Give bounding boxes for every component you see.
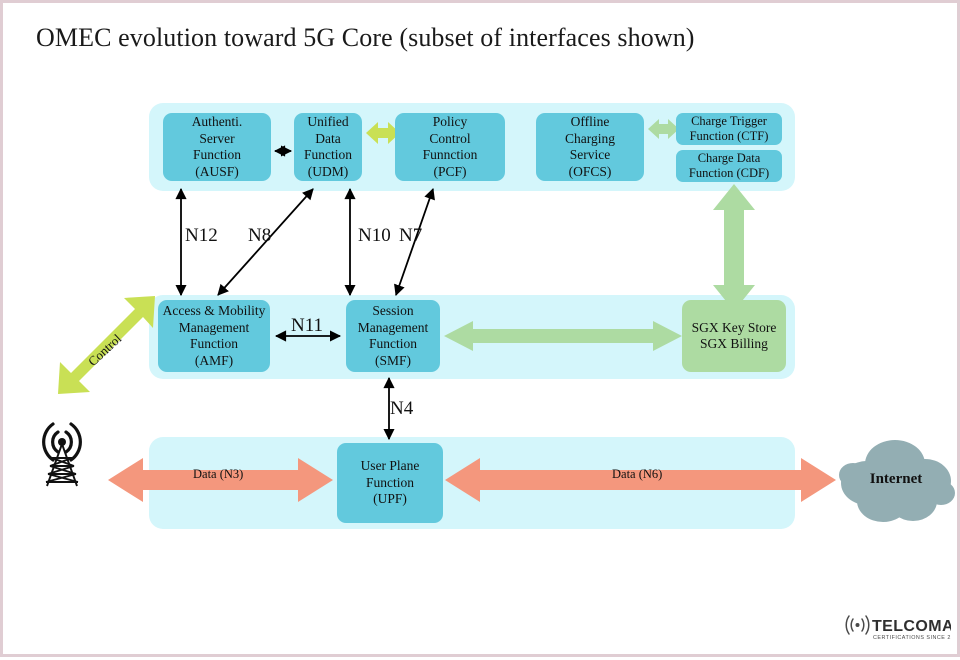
- nf-box-sgx[interactable]: SGX Key Store SGX Billing: [682, 300, 786, 372]
- nf-line: Function: [193, 147, 241, 164]
- nf-box-ausf[interactable]: Authenti. Server Function (AUSF): [163, 113, 271, 181]
- nf-line: SGX Billing: [700, 336, 768, 353]
- nf-line: Offline: [571, 114, 610, 131]
- interface-label-n12: N12: [185, 225, 218, 247]
- nf-line: Policy: [433, 114, 468, 131]
- nf-line: (PCF): [433, 164, 466, 181]
- nf-line: (OFCS): [569, 164, 612, 181]
- user-plane-panel: [149, 437, 795, 529]
- nf-line: Charge Trigger: [691, 114, 767, 129]
- nf-line: Function: [190, 336, 238, 353]
- nf-line: User Plane: [361, 458, 420, 475]
- nf-line: (AUSF): [195, 164, 239, 181]
- nf-box-ctf[interactable]: Charge Trigger Function (CTF): [676, 113, 782, 145]
- nf-line: Management: [179, 320, 249, 337]
- interface-label-n11: N11: [291, 315, 323, 337]
- interface-label-data-n6: Data (N6): [612, 467, 662, 482]
- nf-line: Access & Mobility: [163, 303, 266, 320]
- logo-tagline: CERTIFICATIONS SINCE 2009: [873, 635, 951, 641]
- nf-line: Management: [358, 320, 428, 337]
- page-title: OMEC evolution toward 5G Core (subset of…: [36, 23, 695, 53]
- interface-label-control: Control: [85, 331, 125, 370]
- nf-box-smf[interactable]: Session Management Function (SMF): [346, 300, 440, 372]
- arrow-cdf-sgx: [713, 184, 755, 311]
- interface-label-n4: N4: [390, 398, 413, 420]
- nf-line: (SMF): [375, 353, 411, 370]
- nf-box-cdf[interactable]: Charge Data Function (CDF): [676, 150, 782, 182]
- nf-line: Funnction: [423, 147, 478, 164]
- interface-label-data-n3: Data (N3): [193, 467, 243, 482]
- slide-canvas: OMEC evolution toward 5G Core (subset of…: [0, 0, 960, 657]
- nf-box-pcf[interactable]: Policy Control Funnction (PCF): [395, 113, 505, 181]
- cell-tower-icon: [25, 408, 99, 490]
- nf-line: Function (CDF): [689, 166, 769, 181]
- nf-line: Authenti.: [192, 114, 243, 131]
- nf-line: Unified: [307, 114, 348, 131]
- telcoma-logo: TELCOMA CERTIFICATIONS SINCE 2009: [841, 611, 951, 645]
- nf-line: Control: [429, 131, 470, 148]
- nf-line: Charge Data: [698, 151, 761, 166]
- nf-line: Function: [304, 147, 352, 164]
- internet-cloud: Internet: [837, 431, 955, 531]
- interface-label-n10: N10: [358, 225, 391, 247]
- nf-line: (AMF): [195, 353, 233, 370]
- interface-label-n7: N7: [399, 225, 422, 247]
- logo-wordmark: TELCOMA: [872, 618, 951, 635]
- interface-label-n8: N8: [248, 225, 271, 247]
- nf-line: Charging: [565, 131, 615, 148]
- nf-line: Server: [199, 131, 234, 148]
- nf-line: (UPF): [373, 491, 407, 508]
- nf-line: Session: [372, 303, 413, 320]
- nf-line: Function (CTF): [690, 129, 769, 144]
- nf-box-udm[interactable]: Unified Data Function (UDM): [294, 113, 362, 181]
- nf-line: Function: [369, 336, 417, 353]
- nf-line: Service: [570, 147, 610, 164]
- nf-line: Data: [315, 131, 340, 148]
- nf-box-upf[interactable]: User Plane Function (UPF): [337, 443, 443, 523]
- nf-box-ofcs[interactable]: Offline Charging Service (OFCS): [536, 113, 644, 181]
- nf-line: (UDM): [308, 164, 349, 181]
- nf-line: SGX Key Store: [692, 320, 777, 337]
- nf-line: Function: [366, 475, 414, 492]
- nf-box-amf[interactable]: Access & Mobility Management Function (A…: [158, 300, 270, 372]
- internet-label: Internet: [837, 471, 955, 488]
